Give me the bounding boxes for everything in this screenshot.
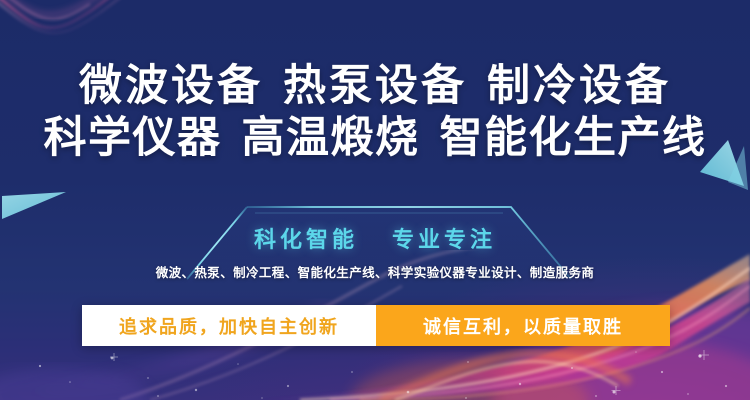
headline-line2-part1: 科学仪器 <box>44 114 222 162</box>
promo-banner: 微波设备热泵设备制冷设备 科学仪器高温煅烧智能化生产线 科化智能专业 <box>0 0 750 400</box>
slogan-row: 科化智能专业专注 <box>0 222 750 254</box>
page-title: 微波设备热泵设备制冷设备 科学仪器高温煅烧智能化生产线 <box>0 62 750 162</box>
subtitle: 微波、热泵、制冷工程、智能化生产线、科学实验仪器专业设计、制造服务商 <box>0 262 750 281</box>
slogan-right: 专业专注 <box>392 222 496 254</box>
headline-line1-part1: 微波设备 <box>79 62 263 110</box>
headline-line1-part3: 制冷设备 <box>487 62 671 110</box>
tagline-right[interactable]: 诚信互利，以质量取胜 <box>376 305 670 346</box>
headline-line1-part2: 热泵设备 <box>283 62 467 110</box>
slogan-left: 科化智能 <box>254 222 358 254</box>
headline-line2-part3: 智能化生产线 <box>440 114 707 162</box>
tagline-bar: 追求品质，加快自主创新 诚信互利，以质量取胜 <box>82 305 670 346</box>
cyan-triangle-left-icon <box>0 176 70 220</box>
tagline-left[interactable]: 追求品质，加快自主创新 <box>82 305 376 346</box>
headline-line2-part2: 高温煅烧 <box>242 114 420 162</box>
